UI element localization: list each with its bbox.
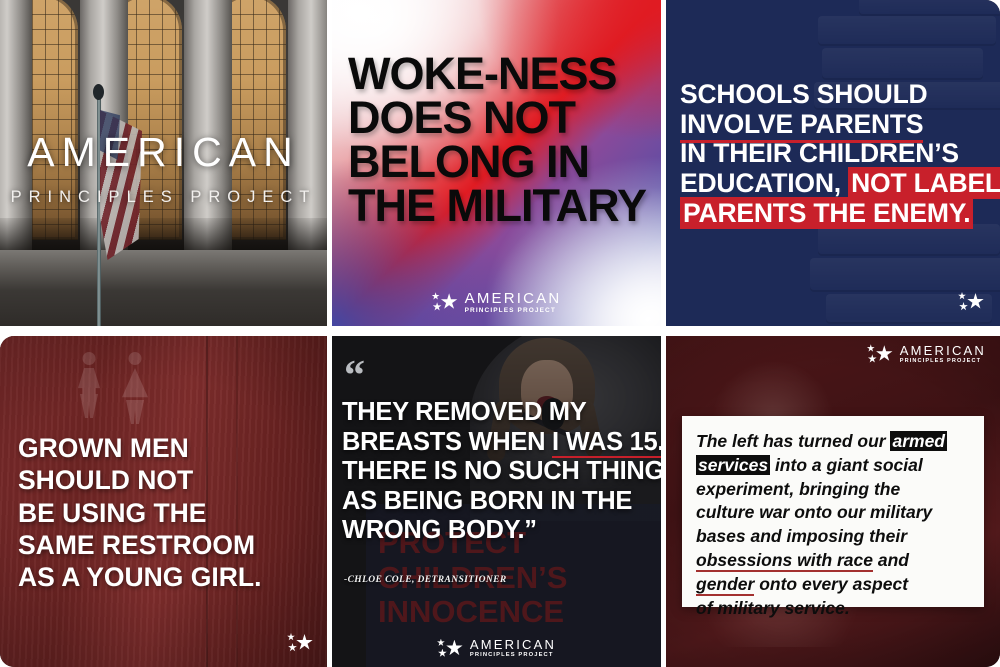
- brand-tagline: PRINCIPLES PROJECT: [465, 308, 562, 315]
- building-base: [0, 250, 327, 326]
- headline-line-1: SCHOOLS SHOULD: [680, 80, 990, 110]
- headline-line-4: EDUCATION, NOT LABEL: [680, 169, 990, 199]
- quote-segment-6: and: [873, 550, 909, 570]
- panel-2-wokeness-military[interactable]: WOKE-NESS DOES NOT BELONG IN THE MILITAR…: [332, 0, 666, 331]
- brand-name: AMERICAN: [900, 344, 986, 357]
- brand-tagline: PRINCIPLES PROJECT: [470, 653, 556, 659]
- headline-line-5: AS A YOUNG GIRL.: [18, 561, 315, 593]
- quote-line-2: BREASTS WHEN I WAS 15.: [342, 428, 655, 458]
- highlight-services: services: [696, 455, 770, 475]
- flagpole-finial: [93, 84, 104, 100]
- panel-5-chloe-cole-quote[interactable]: PROTECT CHILDREN’S INNOCENCE “ THEY REMO…: [332, 331, 666, 667]
- quote-segment-2: into a giant social: [770, 455, 923, 475]
- brand-logo-lockup: AMERICAN PRINCIPLES PROJECT: [867, 344, 986, 365]
- headline-line-3: BE USING THE: [18, 497, 315, 529]
- quote-line-4: AS BEING BORN IN THE: [342, 487, 655, 517]
- headline-line-3: BELONG IN: [348, 140, 647, 184]
- three-star-icon: [432, 292, 458, 312]
- brand-logo-mark: [287, 633, 313, 653]
- quote-line-3: THERE IS NO SUCH THING: [342, 457, 655, 487]
- quote-card: The left has turned our armed services i…: [682, 416, 984, 607]
- headline-line-3: IN THEIR CHILDREN’S: [680, 139, 990, 169]
- three-star-icon: [287, 633, 313, 653]
- three-star-icon: [437, 639, 463, 659]
- highlight-armed: armed: [890, 431, 947, 451]
- brand-wordmark: AMERICAN PRINCIPLES PROJECT: [470, 638, 556, 659]
- panel-3-schools-involve-parents[interactable]: SCHOOLS SHOULD INVOLVE PARENTS IN THEIR …: [666, 0, 1000, 331]
- headline-text: WOKE-NESS DOES NOT BELONG IN THE MILITAR…: [348, 52, 647, 228]
- headline-line-2: DOES NOT: [348, 96, 647, 140]
- headline-line-4: SAME RESTROOM: [18, 529, 315, 561]
- brand-wordmark: AMERICAN PRINCIPLES PROJECT: [465, 291, 562, 315]
- quote-attribution: -CHLOE COLE, DETRANSITIONER: [344, 575, 507, 585]
- quote-segment-5: bases and imposing their: [696, 526, 907, 546]
- brand-name: AMERICAN: [465, 291, 562, 306]
- quote-text: THEY REMOVED MY BREASTS WHEN I WAS 15. T…: [342, 398, 655, 546]
- brand-logo-lockup: AMERICAN PRINCIPLES PROJECT: [332, 291, 661, 315]
- quote-line-5: WRONG BODY.”: [342, 516, 655, 546]
- brand-wordmark: AMERICAN PRINCIPLES PROJECT: [900, 344, 986, 365]
- underlined-obsessions: obsessions with race: [696, 550, 873, 572]
- panel-1-american-principles-logo[interactable]: AMERICAN PRINCIPLES PROJECT: [0, 0, 332, 331]
- headline-line-5: PARENTS THE ENEMY.: [680, 199, 990, 229]
- panel-4-grown-men-restroom[interactable]: GROWN MEN SHOULD NOT BE USING THE SAME R…: [0, 331, 332, 667]
- quote-segment-3: experiment, bringing the: [696, 479, 900, 499]
- brand-logo-lockup: AMERICAN PRINCIPLES PROJECT: [332, 638, 661, 659]
- three-star-icon: [867, 344, 893, 364]
- headline-line-2: SHOULD NOT: [18, 464, 315, 496]
- brand-logo-mark: [958, 292, 984, 312]
- brand-tagline: PRINCIPLES PROJECT: [900, 359, 986, 365]
- highlight-not-label: NOT LABEL: [848, 167, 1000, 199]
- quote-text: The left has turned our armed services i…: [696, 430, 972, 620]
- underlined-phrase: I WAS 15.: [552, 428, 661, 458]
- image-grid: AMERICAN PRINCIPLES PROJECT WOKE-NESS DO…: [0, 0, 1000, 667]
- headline-text: SCHOOLS SHOULD INVOLVE PARENTS IN THEIR …: [680, 80, 990, 228]
- headline-line-1: GROWN MEN: [18, 432, 315, 464]
- quote-line-1: THEY REMOVED MY: [342, 398, 655, 428]
- underlined-gender: gender: [696, 574, 754, 596]
- headline-line-4: THE MILITARY: [348, 184, 647, 228]
- brand-name: AMERICAN: [470, 638, 556, 651]
- three-star-icon: [958, 292, 984, 312]
- panel-6-armed-services-quote[interactable]: AMERICAN PRINCIPLES PROJECT The left has…: [666, 331, 1000, 667]
- brand-wordmark-american: AMERICAN: [0, 132, 327, 173]
- quote-segment-7: onto every aspect: [754, 574, 908, 594]
- headline-text: GROWN MEN SHOULD NOT BE USING THE SAME R…: [18, 432, 315, 594]
- quote-segment-8: of military service.: [696, 598, 850, 618]
- open-quote-icon: “: [344, 364, 365, 389]
- brand-wordmark-principles-project: PRINCIPLES PROJECT: [0, 188, 327, 207]
- headline-line-1: WOKE-NESS: [348, 52, 647, 96]
- headline-line-2: INVOLVE PARENTS: [680, 110, 990, 140]
- quote-segment-1: The left has turned our: [696, 431, 890, 451]
- quote-segment-4: culture war onto our military: [696, 502, 932, 522]
